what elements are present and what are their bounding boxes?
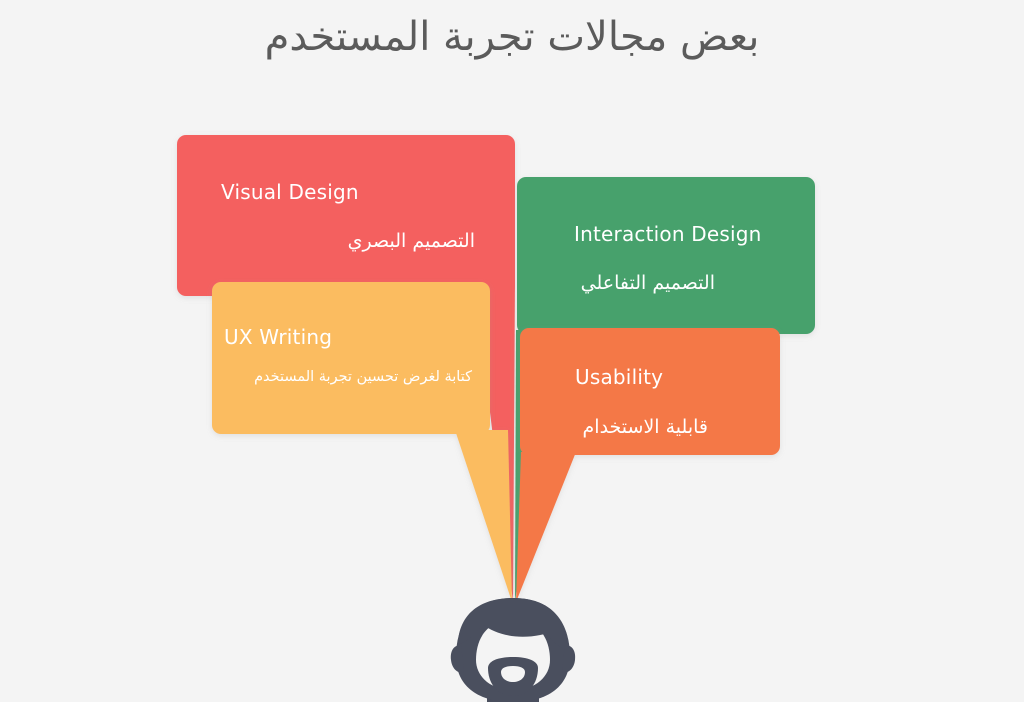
card-visual-design-arabic-label: التصميم البصري: [181, 228, 475, 254]
card-ux-writing-english-label: UX Writing: [224, 324, 332, 350]
card-ux-writing-body[interactable]: [212, 282, 490, 434]
card-interaction-design-body[interactable]: [517, 177, 815, 334]
card-ux-writing-tail: [455, 430, 512, 602]
card-visual-design-body[interactable]: [177, 135, 515, 296]
card-usability-arabic-label: قابلية الاستخدام: [530, 414, 708, 440]
card-interaction-design-arabic-label: التصميم التفاعلي: [530, 270, 715, 296]
bearded-person-head-icon: [451, 598, 575, 702]
card-interaction-design-english-label: Interaction Design: [574, 221, 762, 247]
speech-bubble-group: [0, 0, 1024, 702]
card-visual-design-english-label: Visual Design: [221, 179, 359, 205]
card-usability-english-label: Usability: [575, 364, 663, 390]
card-usability-tail: [516, 452, 576, 602]
infographic-canvas: بعض مجالات تجربة المستخدم: [0, 0, 1024, 702]
card-ux-writing-arabic-label: كتابة لغرض تحسين تجربة المستخدم: [184, 367, 472, 387]
